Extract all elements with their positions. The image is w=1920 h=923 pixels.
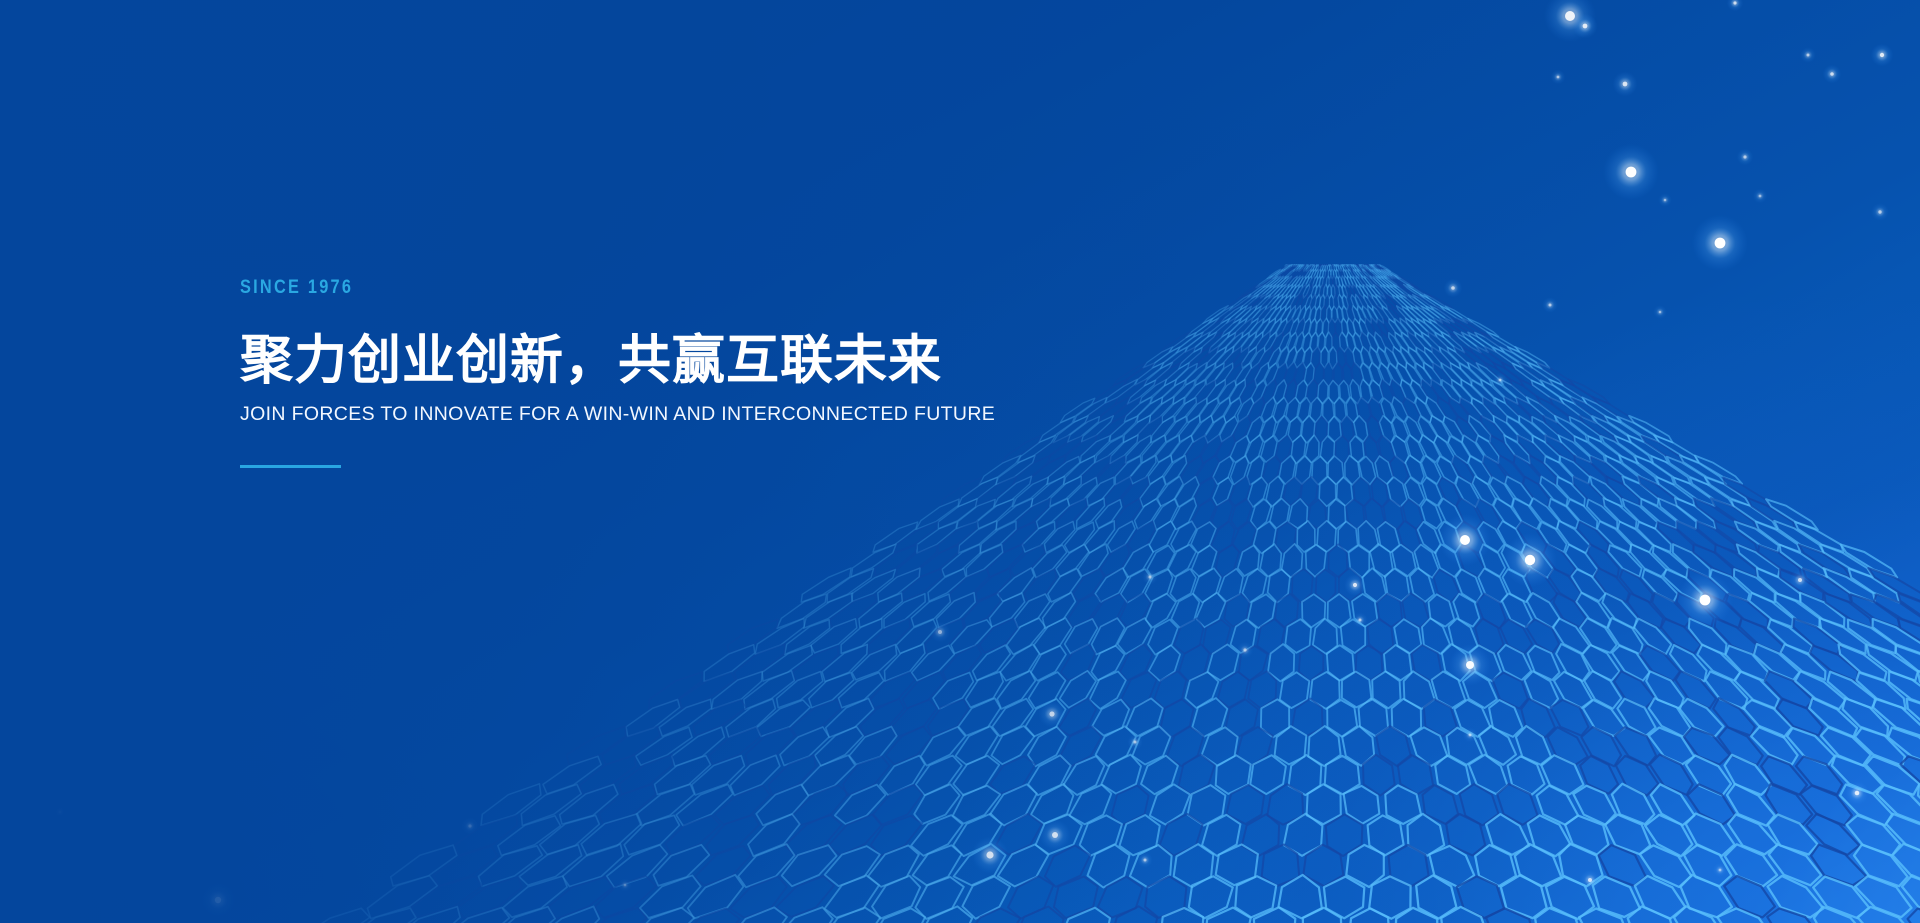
eyebrow-since-label: SINCE 1976 xyxy=(240,278,1100,297)
page-title: 聚力创业创新，共赢互联未来 xyxy=(240,333,1240,389)
hero-banner: SINCE 1976 聚力创业创新，共赢互联未来 JOIN FORCES TO … xyxy=(0,0,1920,923)
accent-rule xyxy=(240,465,341,468)
page-subtitle: JOIN FORCES TO INNOVATE FOR A WIN-WIN AN… xyxy=(240,403,1240,426)
hero-text-block: SINCE 1976 聚力创业创新，共赢互联未来 JOIN FORCES TO … xyxy=(240,278,1240,468)
